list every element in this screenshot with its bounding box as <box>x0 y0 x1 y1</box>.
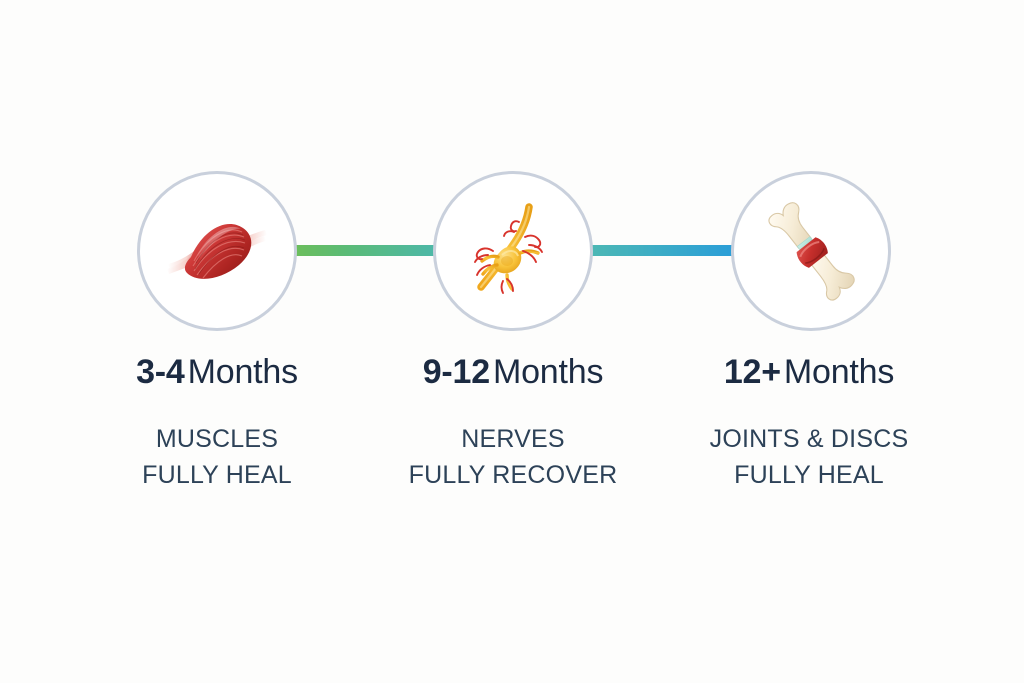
nerve-to-joint-connector <box>590 245 734 256</box>
stage-label-joint: 12+Months JOINTS & DISCS FULLY HEAL <box>661 352 957 493</box>
tissue-line-1-joint: JOINTS & DISCS <box>661 421 957 457</box>
connector-rail <box>0 0 1024 683</box>
stage-circle-nerve <box>433 171 593 331</box>
duration-nerve: 9-12Months <box>365 352 661 392</box>
stage-circle-muscle <box>137 171 297 331</box>
duration-number-muscle: 3-4 <box>136 353 185 391</box>
duration-number-nerve: 9-12 <box>423 353 490 391</box>
duration-unit-nerve: Months <box>493 353 603 391</box>
duration-unit-muscle: Months <box>188 353 298 391</box>
tissue-line-1-nerve: NERVES <box>365 421 661 457</box>
duration-number-joint: 12+ <box>724 353 781 391</box>
stage-circle-joint <box>731 171 891 331</box>
muscle-to-nerve-connector <box>295 245 436 256</box>
duration-muscle: 3-4Months <box>69 352 365 392</box>
tissue-line-2-nerve: FULLY RECOVER <box>365 457 661 493</box>
stage-label-muscle: 3-4Months MUSCLES FULLY HEAL <box>69 352 365 493</box>
tissue-line-1-muscle: MUSCLES <box>69 421 365 457</box>
tissue-line-2-joint: FULLY HEAL <box>661 457 957 493</box>
duration-joint: 12+Months <box>661 352 957 392</box>
joint-bone-icon <box>755 195 867 307</box>
healing-timeline-infographic: 3-4Months MUSCLES FULLY HEAL 9-12Months … <box>0 0 1024 683</box>
nerve-cell-icon <box>457 195 569 307</box>
tissue-text-muscle: MUSCLES FULLY HEAL <box>69 421 365 493</box>
duration-unit-joint: Months <box>784 353 894 391</box>
muscle-icon <box>161 195 273 307</box>
stage-label-nerve: 9-12Months NERVES FULLY RECOVER <box>365 352 661 493</box>
tissue-text-nerve: NERVES FULLY RECOVER <box>365 421 661 493</box>
tissue-text-joint: JOINTS & DISCS FULLY HEAL <box>661 421 957 493</box>
stage-labels: 3-4Months MUSCLES FULLY HEAL 9-12Months … <box>0 352 1024 493</box>
tissue-line-2-muscle: FULLY HEAL <box>69 457 365 493</box>
